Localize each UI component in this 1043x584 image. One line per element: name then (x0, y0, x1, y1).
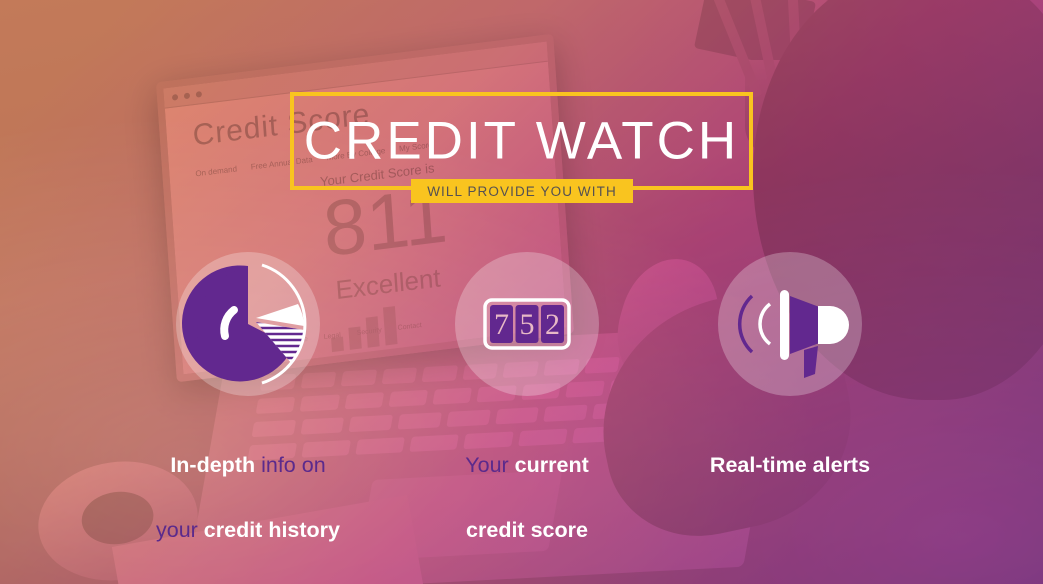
subtitle-band: WILL PROVIDE YOU WITH (411, 179, 633, 203)
feature-caption: Real-time alerts (668, 416, 912, 481)
page-title: CREDIT WATCH (294, 111, 749, 172)
pie-chart-icon (176, 252, 320, 396)
score-digit: 7 (494, 308, 509, 341)
megaphone-icon (718, 252, 862, 396)
feature-caption: Your current credit score (405, 416, 649, 547)
caption-part: Real-time alerts (710, 453, 870, 477)
credit-score-digits-icon: 7 5 2 (455, 252, 599, 396)
feature-item-credit-history: In-depth info on your credit history (126, 252, 370, 547)
feature-caption: In-depth info on your credit history (126, 416, 370, 547)
feature-item-realtime-alerts: Real-time alerts (668, 252, 912, 481)
feature-icon-disc: 7 5 2 (455, 252, 599, 396)
subtitle-text: WILL PROVIDE YOU WITH (427, 184, 617, 199)
caption-part: credit score (466, 518, 588, 542)
title-frame: CREDIT WATCH (290, 92, 753, 190)
slide-canvas: Credit Score On demand Free Annual Data … (0, 0, 1043, 584)
score-digit: 5 (520, 308, 535, 341)
caption-part: Your (465, 453, 514, 477)
caption-part: current (515, 453, 589, 477)
caption-part: credit history (204, 518, 340, 542)
feature-icon-disc (176, 252, 320, 396)
score-digit: 2 (545, 308, 560, 341)
caption-part: your (156, 518, 204, 542)
caption-part: info on (255, 453, 326, 477)
feature-item-credit-score: 7 5 2 Your current credit score (405, 252, 649, 547)
caption-part: In-depth (170, 453, 255, 477)
feature-icon-disc (718, 252, 862, 396)
